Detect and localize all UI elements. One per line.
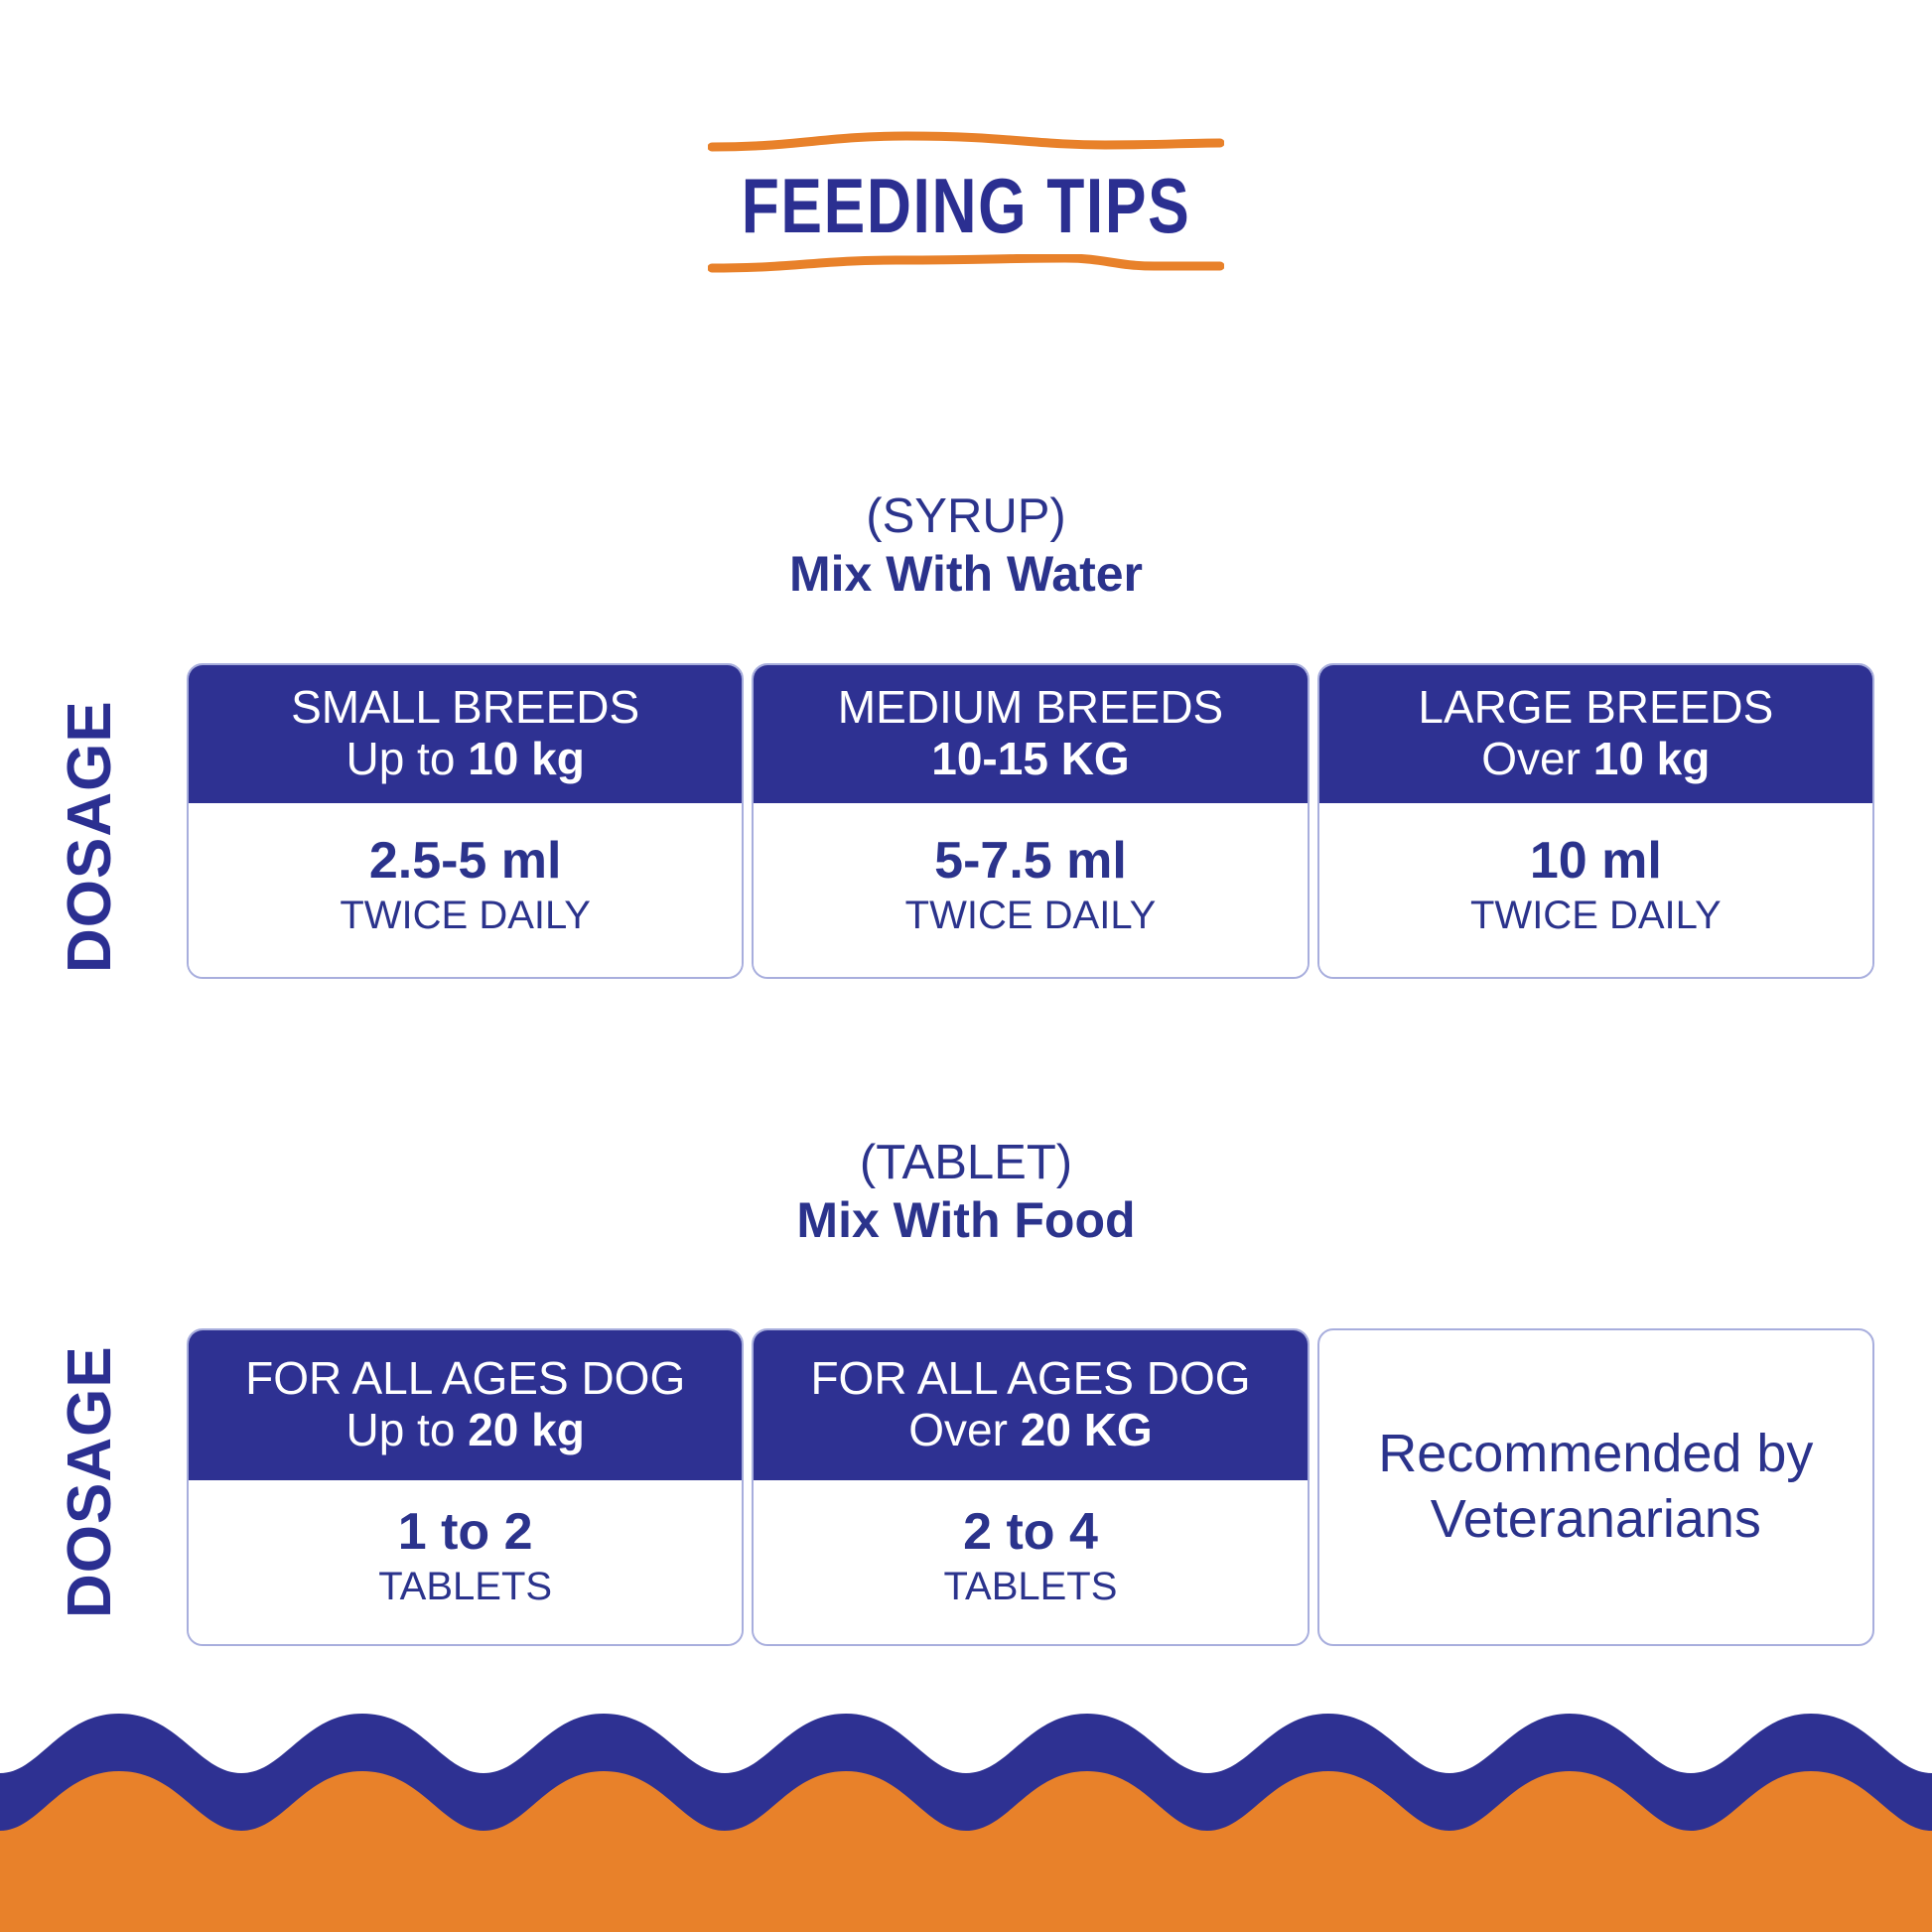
tablet-col2-header: FOR ALL AGES DOG Over 20 KG xyxy=(754,1330,1307,1480)
recommended-line-2: Veteranarians xyxy=(1413,1489,1779,1549)
syrup-col3-breed-label: LARGE BREEDS xyxy=(1327,681,1864,733)
tablet-col1-age-label: FOR ALL AGES DOG xyxy=(197,1352,734,1404)
tablet-col2-age-label: FOR ALL AGES DOG xyxy=(761,1352,1299,1404)
syrup-col2-frequency: TWICE DAILY xyxy=(761,892,1299,939)
tablet-col2-body: 2 to 4 TABLETS xyxy=(754,1480,1307,1644)
tablet-col2-amount: 2 to 4 xyxy=(761,1504,1299,1561)
syrup-kind-label: (SYRUP) xyxy=(0,488,1932,545)
tablet-col1-weight-label: Up to 20 kg xyxy=(197,1404,734,1455)
tablet-column-up-to-20kg[interactable]: FOR ALL AGES DOG Up to 20 kg 1 to 2 TABL… xyxy=(187,1328,744,1646)
tablet-col1-body: 1 to 2 TABLETS xyxy=(189,1480,742,1644)
syrup-section-heading: (SYRUP) Mix With Water xyxy=(0,488,1932,603)
syrup-col3-header: LARGE BREEDS Over 10 kg xyxy=(1319,665,1872,803)
syrup-column-small-breeds[interactable]: SMALL BREEDS Up to 10 kg 2.5-5 ml TWICE … xyxy=(187,663,744,979)
header-bottom-rule-decoration xyxy=(708,254,1224,276)
tablet-column-over-20kg[interactable]: FOR ALL AGES DOG Over 20 KG 2 to 4 TABLE… xyxy=(752,1328,1309,1646)
syrup-dosage-table: SMALL BREEDS Up to 10 kg 2.5-5 ml TWICE … xyxy=(187,663,1874,979)
dosage-label-syrup: DOSAGE xyxy=(60,700,121,973)
syrup-col1-frequency: TWICE DAILY xyxy=(197,892,734,939)
tablet-kind-label: (TABLET) xyxy=(0,1135,1932,1191)
syrup-col2-body: 5-7.5 ml TWICE DAILY xyxy=(754,803,1307,977)
syrup-col1-breed-label: SMALL BREEDS xyxy=(197,681,734,733)
tablet-section-heading: (TABLET) Mix With Food xyxy=(0,1135,1932,1249)
page-title: FEEDING TIPS xyxy=(194,167,1739,244)
recommended-line-1: Recommended by xyxy=(1360,1424,1831,1483)
syrup-col3-frequency: TWICE DAILY xyxy=(1327,892,1864,939)
tablet-col1-amount: 1 to 2 xyxy=(197,1504,734,1561)
tablet-col2-unit: TABLETS xyxy=(761,1563,1299,1610)
recommended-by-vets-text: Recommended byVeteranarians xyxy=(1342,1422,1849,1553)
syrup-col1-header: SMALL BREEDS Up to 10 kg xyxy=(189,665,742,803)
dosage-label-tablet: DOSAGE xyxy=(60,1345,121,1618)
syrup-col2-amount: 5-7.5 ml xyxy=(761,833,1299,890)
syrup-col2-weight-label: 10-15 KG xyxy=(761,733,1299,784)
tablet-col1-header: FOR ALL AGES DOG Up to 20 kg xyxy=(189,1330,742,1480)
syrup-col3-weight-label: Over 10 kg xyxy=(1327,733,1864,784)
tablet-instruction-label: Mix With Food xyxy=(0,1191,1932,1249)
syrup-col3-amount: 10 ml xyxy=(1327,833,1864,890)
recommended-by-vets-panel: Recommended byVeteranarians xyxy=(1317,1328,1874,1646)
syrup-column-large-breeds[interactable]: LARGE BREEDS Over 10 kg 10 ml TWICE DAIL… xyxy=(1317,663,1874,979)
syrup-col3-body: 10 ml TWICE DAILY xyxy=(1319,803,1872,977)
syrup-col1-body: 2.5-5 ml TWICE DAILY xyxy=(189,803,742,977)
syrup-col2-breed-label: MEDIUM BREEDS xyxy=(761,681,1299,733)
tablet-dosage-table: FOR ALL AGES DOG Up to 20 kg 1 to 2 TABL… xyxy=(187,1328,1874,1646)
bottom-wave-decoration xyxy=(0,1704,1932,1932)
syrup-col2-header: MEDIUM BREEDS 10-15 KG xyxy=(754,665,1307,803)
tablet-col1-unit: TABLETS xyxy=(197,1563,734,1610)
header-top-rule-decoration xyxy=(708,131,1224,153)
syrup-instruction-label: Mix With Water xyxy=(0,545,1932,603)
syrup-column-medium-breeds[interactable]: MEDIUM BREEDS 10-15 KG 5-7.5 ml TWICE DA… xyxy=(752,663,1309,979)
tablet-col2-weight-label: Over 20 KG xyxy=(761,1404,1299,1455)
syrup-col1-weight-label: Up to 10 kg xyxy=(197,733,734,784)
page-header: FEEDING TIPS xyxy=(0,131,1932,276)
syrup-col1-amount: 2.5-5 ml xyxy=(197,833,734,890)
